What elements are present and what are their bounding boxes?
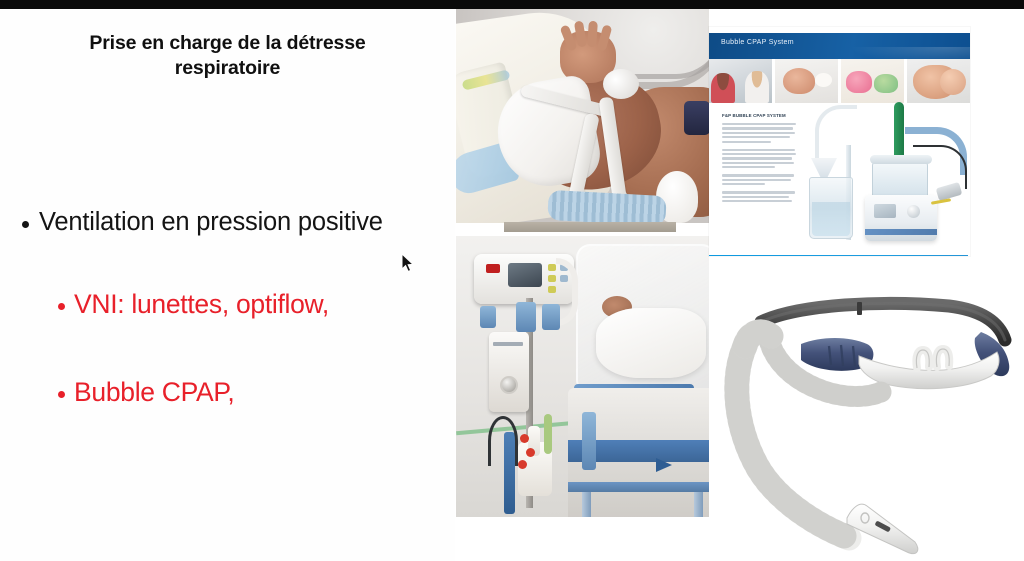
brochure-thumbnail-strip — [709, 59, 970, 103]
brochure-body-text: F&P BUBBLE CPAP SYSTEM — [722, 113, 796, 208]
neonate-cpap-photo — [456, 9, 709, 223]
bubble-cpap-brochure-image: Bubble CPAP System F&P BUBBLE CPAP SYSTE… — [709, 27, 970, 256]
letterbox-bar-top — [0, 0, 1024, 9]
brochure-humidifier-chamber — [872, 159, 928, 199]
page-title-line-1: Prise en charge de la détresse — [89, 32, 365, 54]
brochure-thumb-baby-booties — [841, 59, 904, 103]
cannula-illustration — [709, 266, 1024, 561]
brochure-bubble-bottle — [809, 177, 853, 239]
bullet-level2-bubble-cpap: Bubble CPAP, — [58, 377, 458, 408]
bullet-level2-vni-text: VNI: lunettes, optiflow, — [74, 289, 329, 320]
slide-text-column: Prise en charge de la détresse respirato… — [0, 9, 455, 561]
nicu-incubator-photo — [456, 236, 709, 517]
bullet-dot-icon — [22, 221, 29, 228]
brochure-green-tube — [894, 102, 904, 162]
brochure-humidifier-base — [865, 195, 937, 241]
optiflow-nasal-cannula-photo — [709, 266, 1024, 561]
brochure-paragraph — [722, 149, 796, 169]
presentation-slide: Prise en charge de la détresse respirato… — [0, 0, 1024, 561]
brochure-paragraph — [722, 174, 796, 185]
brochure-header-title: Bubble CPAP System — [721, 39, 794, 46]
brochure-paragraph — [722, 123, 796, 143]
brochure-header-band — [709, 33, 970, 59]
bullet-dot-icon — [58, 391, 65, 398]
bullet-level2-bubble-cpap-text: Bubble CPAP, — [74, 377, 234, 408]
brochure-paragraph — [722, 191, 796, 202]
bullet-level1-text: Ventilation en pression positive — [39, 207, 383, 238]
brochure-body-heading: F&P BUBBLE CPAP SYSTEM — [722, 113, 796, 118]
bullet-level1-ventilation: Ventilation en pression positive — [22, 207, 452, 238]
video-progress-bar[interactable] — [504, 222, 676, 232]
page-title: Prise en charge de la détresse respirato… — [40, 31, 415, 81]
brochure-thumb-newborn-lying — [907, 59, 970, 103]
brochure-thumb-newborn-hand — [775, 59, 838, 103]
brochure-footer-rule — [709, 255, 968, 256]
page-title-line-2: respiratoire — [175, 57, 281, 79]
brochure-thumb-clinician-and-mother — [709, 59, 772, 103]
mouse-cursor — [401, 253, 415, 273]
bullet-dot-icon — [58, 303, 65, 310]
bullet-level2-vni: VNI: lunettes, optiflow, — [58, 289, 458, 320]
brochure-bottle-funnel — [811, 158, 837, 178]
